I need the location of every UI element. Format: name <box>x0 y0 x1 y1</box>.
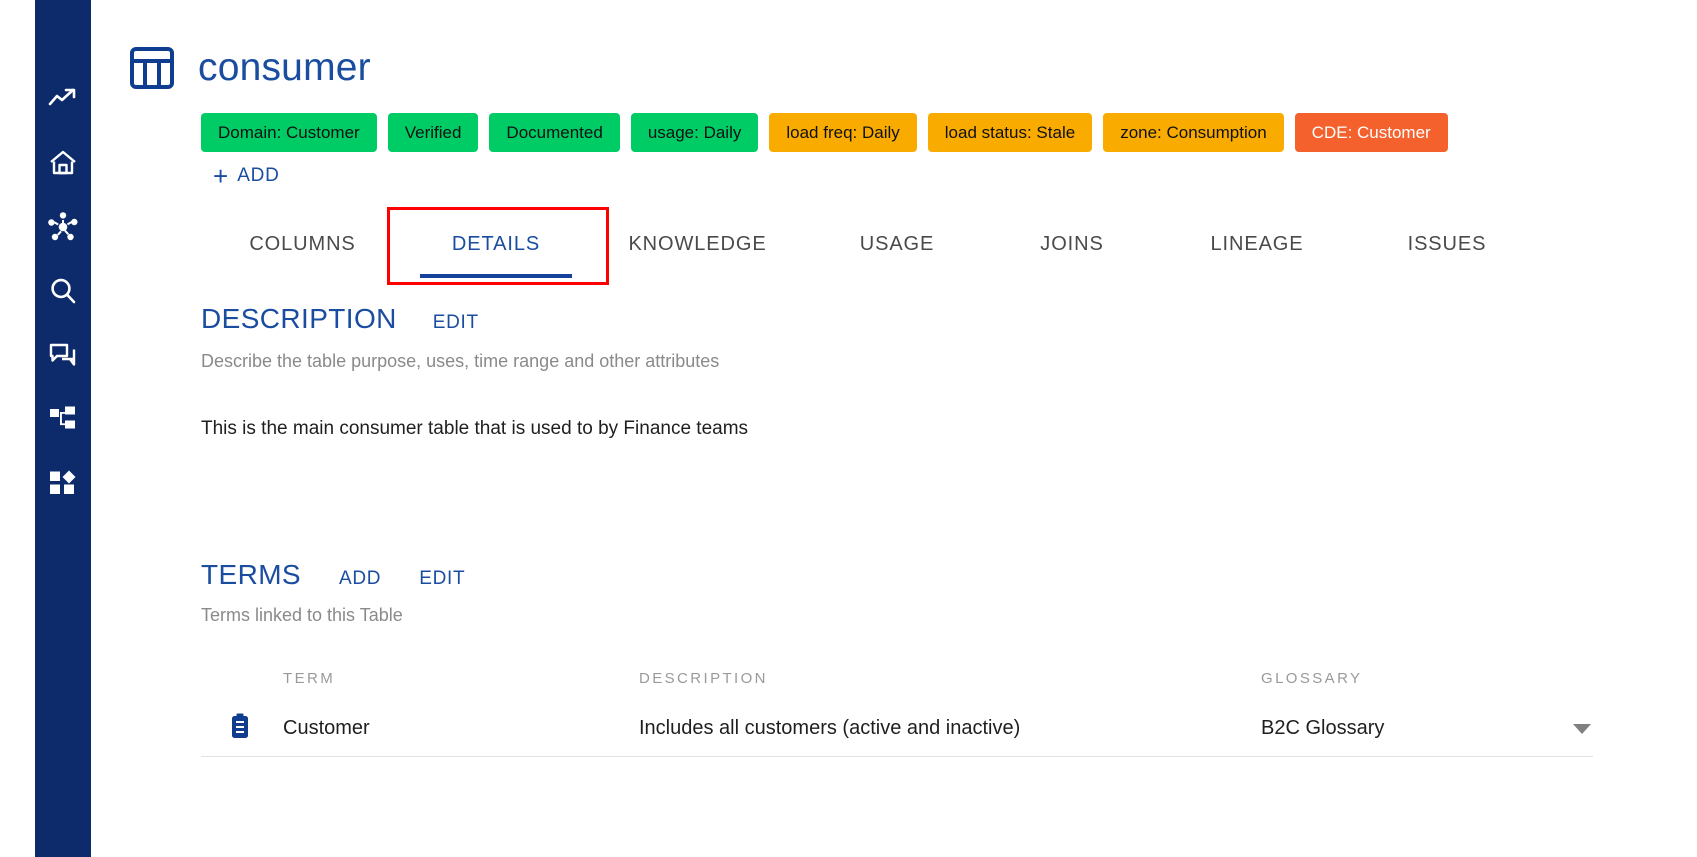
description-header: DESCRIPTION EDIT <box>201 303 479 335</box>
term-description-cell: Includes all customers (active and inact… <box>639 717 1261 740</box>
tab-lineage[interactable]: LINEAGE <box>1157 210 1357 278</box>
network-hub-icon <box>48 212 78 242</box>
terms-table: TERM DESCRIPTION GLOSSARY Customer Incl <box>201 655 1593 757</box>
tag-chip-verified[interactable]: Verified <box>388 113 479 152</box>
tag-chip-cde[interactable]: CDE: Customer <box>1295 113 1448 152</box>
term-icon-cell <box>201 713 283 745</box>
tab-joins[interactable]: JOINS <box>987 210 1157 278</box>
sidebar-item-apps[interactable] <box>43 466 83 500</box>
tag-chip-usage[interactable]: usage: Daily <box>631 113 759 152</box>
search-icon <box>49 277 77 305</box>
page-title: consumer <box>198 46 371 90</box>
sidebar-item-lineage[interactable] <box>43 402 83 436</box>
sidebar-item-search[interactable] <box>43 274 83 308</box>
terms-column-description: DESCRIPTION <box>639 670 1261 687</box>
apps-grid-icon <box>49 470 77 496</box>
description-title: DESCRIPTION <box>201 303 397 335</box>
description-hint: Describe the table purpose, uses, time r… <box>201 351 719 372</box>
description-edit-button[interactable]: EDIT <box>433 312 479 334</box>
term-expand-cell[interactable] <box>1561 724 1593 734</box>
sidebar-item-home[interactable] <box>43 146 83 180</box>
tab-bar: COLUMNS DETAILS KNOWLEDGE USAGE JOINS LI… <box>201 210 1537 278</box>
tag-chip-domain-customer[interactable]: Domain: Customer <box>201 113 377 152</box>
sidebar-item-network[interactable] <box>43 210 83 244</box>
terms-column-glossary: GLOSSARY <box>1261 670 1561 687</box>
table-row[interactable]: Customer Includes all customers (active … <box>201 701 1593 757</box>
home-icon <box>49 150 77 176</box>
tag-chip-load-status[interactable]: load status: Stale <box>928 113 1092 152</box>
tag-chip-zone[interactable]: zone: Consumption <box>1103 113 1283 152</box>
terms-table-header-row: TERM DESCRIPTION GLOSSARY <box>201 655 1593 701</box>
tab-issues[interactable]: ISSUES <box>1357 210 1537 278</box>
tag-chip-load-freq[interactable]: load freq: Daily <box>769 113 916 152</box>
term-glossary-cell: B2C Glossary <box>1261 717 1561 740</box>
terms-hint: Terms linked to this Table <box>201 605 403 626</box>
terms-column-term: TERM <box>283 670 639 687</box>
add-tag-label: ADD <box>237 165 280 187</box>
description-body: This is the main consumer table that is … <box>201 418 748 440</box>
table-icon <box>128 44 176 92</box>
tab-usage[interactable]: USAGE <box>807 210 987 278</box>
tab-knowledge[interactable]: KNOWLEDGE <box>588 210 807 278</box>
clipboard-icon <box>229 713 251 745</box>
hierarchy-icon <box>49 406 77 432</box>
plus-icon: + <box>213 163 228 189</box>
terms-header: TERMS ADD EDIT <box>201 559 465 591</box>
sidebar-item-insights[interactable] <box>43 82 83 116</box>
trending-up-icon <box>48 87 78 111</box>
page-header: consumer <box>128 44 371 92</box>
chat-icon <box>49 342 77 368</box>
term-name-cell: Customer <box>283 717 639 740</box>
terms-edit-button[interactable]: EDIT <box>419 568 465 590</box>
app-root: consumer Domain: Customer Verified Docum… <box>0 0 1697 857</box>
terms-title: TERMS <box>201 559 301 591</box>
add-tag-button[interactable]: + ADD <box>213 163 280 189</box>
left-sidebar <box>35 0 91 857</box>
sidebar-item-conversations[interactable] <box>43 338 83 372</box>
tab-columns[interactable]: COLUMNS <box>201 210 404 278</box>
tab-details[interactable]: DETAILS <box>404 210 588 278</box>
tag-chip-documented[interactable]: Documented <box>489 113 619 152</box>
chevron-down-icon[interactable] <box>1573 724 1591 734</box>
tag-chip-list: Domain: Customer Verified Documented usa… <box>201 113 1448 152</box>
terms-add-button[interactable]: ADD <box>339 568 381 590</box>
